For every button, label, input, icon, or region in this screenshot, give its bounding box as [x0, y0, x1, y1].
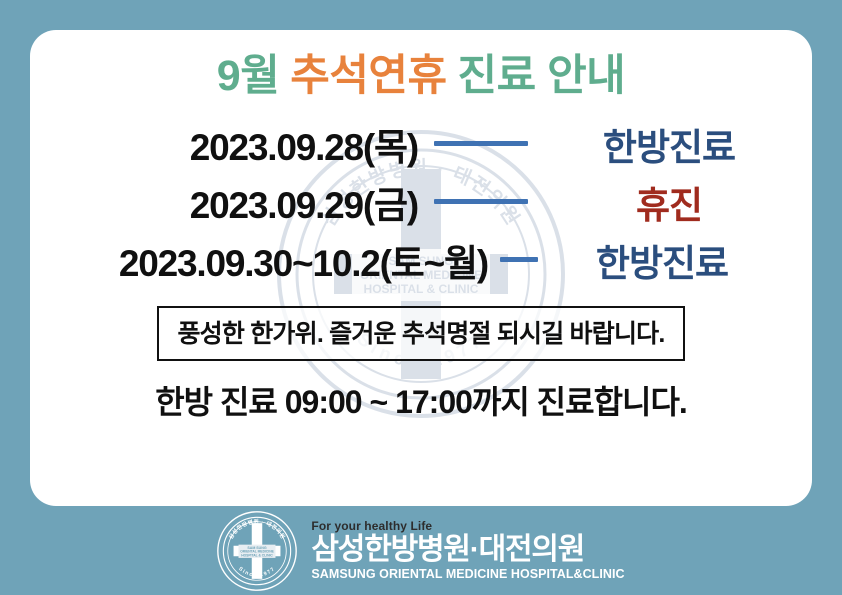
schedule-row: 2023.09.28(목) 한방진료	[30, 118, 812, 170]
schedule-row: 2023.09.29(금) 휴진	[30, 176, 812, 228]
svg-text:ORIENTAL MEDICINE: ORIENTAL MEDICINE	[241, 549, 275, 553]
footer-tagline: For your healthy Life	[311, 520, 624, 532]
schedule-separator-dash-icon	[500, 257, 538, 262]
holiday-notice-poster: SAM SUNG ORIENTAL MEDICINE HOSPITAL & CL…	[0, 0, 842, 595]
page-title: 9월추석연휴진료 안내	[30, 52, 812, 102]
schedule-date: 2023.09.29(금)	[48, 175, 418, 229]
title-holiday: 추석연휴	[290, 52, 446, 100]
greeting-message: 풍성한 한가위. 즐거운 추석명절 되시길 바랍니다.	[157, 306, 684, 361]
svg-text:SAM SUNG: SAM SUNG	[248, 545, 267, 549]
clinic-hours-text: 한방 진료 09:00 ~ 17:00까지 진료합니다.	[30, 377, 812, 423]
schedule-separator-dash-icon	[434, 199, 528, 204]
notice-content: 9월추석연휴진료 안내 2023.09.28(목) 한방진료 2023.09.2…	[30, 30, 812, 506]
title-month: 9월	[217, 52, 279, 100]
schedule-list: 2023.09.28(목) 한방진료 2023.09.29(금) 휴진 2023…	[30, 118, 812, 286]
schedule-status: 한방진료	[550, 233, 774, 287]
greeting-box-wrapper: 풍성한 한가위. 즐거운 추석명절 되시길 바랍니다.	[30, 306, 812, 361]
footer-hospital-name-en: SAMSUNG ORIENTAL MEDICINE HOSPITAL&CLINI…	[311, 568, 624, 581]
footer-text-block: For your healthy Life 삼성한방병원·대전의원 SAMSUN…	[311, 520, 624, 581]
footer-branding: SAM SUNG ORIENTAL MEDICINE HOSPITAL & CL…	[0, 506, 842, 595]
schedule-row: 2023.09.30~10.2(토~월) 한방진료	[30, 234, 812, 286]
schedule-status: 휴진	[544, 175, 794, 229]
schedule-status: 한방진료	[544, 117, 794, 171]
hospital-emblem-icon: SAM SUNG ORIENTAL MEDICINE HOSPITAL & CL…	[217, 511, 297, 591]
schedule-date: 2023.09.28(목)	[48, 117, 418, 171]
schedule-separator-dash-icon	[434, 141, 528, 146]
svg-text:HOSPITAL & CLINIC: HOSPITAL & CLINIC	[242, 553, 274, 557]
notice-card: SAM SUNG ORIENTAL MEDICINE HOSPITAL & CL…	[30, 30, 812, 506]
footer-hospital-name-ko: 삼성한방병원·대전의원	[311, 535, 624, 565]
title-suffix: 진료 안내	[458, 52, 626, 100]
schedule-date: 2023.09.30~10.2(토~월)	[68, 233, 488, 287]
